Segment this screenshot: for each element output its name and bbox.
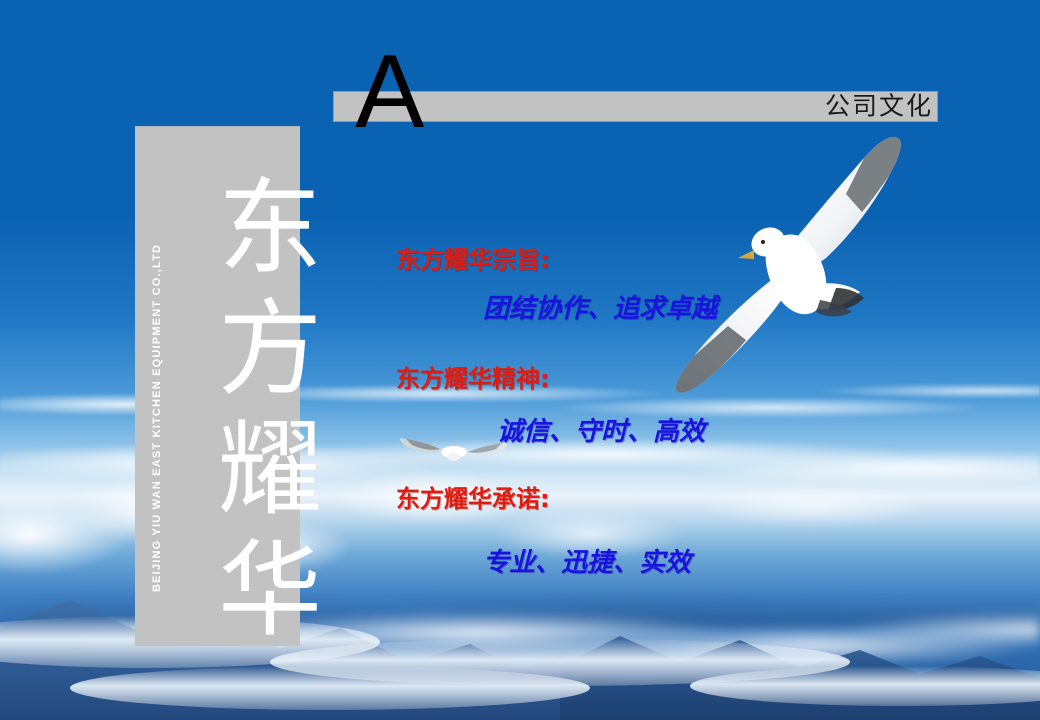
culture-phrase-spirit: 诚信、守时、高效 [497, 419, 705, 445]
presentation-slide: 公司文化 A BEIJING YIU WAN EAST KITCHEN EQUI… [0, 0, 1040, 720]
culture-heading-spirit: 东方耀华精神: [396, 367, 550, 391]
culture-heading-purpose: 东方耀华宗旨: [396, 248, 550, 272]
culture-content-area: 东方耀华宗旨: 团结协作、追求卓越 东方耀华精神: 诚信、守时、高效 东方耀华承… [0, 0, 1040, 720]
culture-heading-promise: 东方耀华承诺: [396, 487, 550, 511]
culture-phrase-purpose: 团结协作、追求卓越 [483, 296, 717, 322]
culture-phrase-promise: 专业、迅捷、实效 [483, 550, 691, 576]
